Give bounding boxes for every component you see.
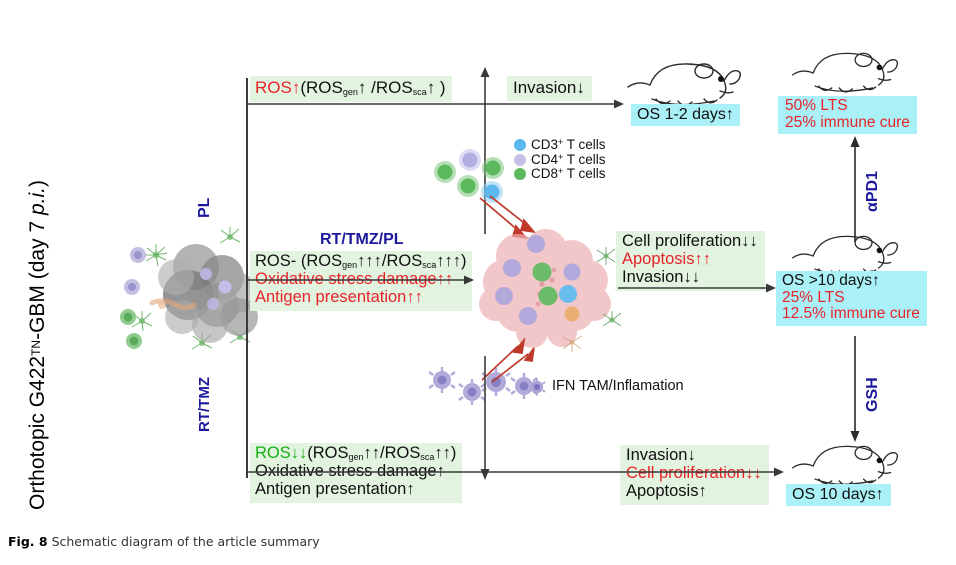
- y-axis-title-rest: -GBM (day 7: [26, 215, 49, 340]
- legend-cd4-text: CD4: [531, 152, 558, 167]
- macrophage-icon: [528, 378, 546, 396]
- apd1-label: αPD1: [864, 171, 882, 212]
- top-flow-arrow: [246, 98, 626, 112]
- bottom-os-box: OS 10 days↑: [786, 484, 891, 506]
- bottom-ros-mid: ↑↑/ROS: [364, 444, 421, 462]
- middle-lts-line: 25% LTS: [782, 290, 920, 307]
- top-ros-sca-subscript: sca: [413, 87, 427, 97]
- bottom-ros-open: (ROS: [307, 444, 348, 462]
- top-ros-gen-subscript: gen: [343, 87, 358, 97]
- cd8-dot-icon: [514, 168, 526, 180]
- center-tumor-illustration: [466, 228, 631, 350]
- macrophage-legend-label: IFN TAM/Inflamation: [552, 379, 684, 395]
- middle-ros-sca-subscript: sca: [422, 260, 436, 270]
- top-ros-detail-close: ↑ ): [427, 78, 446, 97]
- legend-cd3-text: CD3: [531, 137, 558, 152]
- legend-item-cd8: CD8+ T cells: [514, 167, 606, 182]
- gsh-down-arrow: [848, 336, 862, 442]
- figure-caption: Fig. 8 Schematic diagram of the article …: [8, 534, 320, 549]
- tcell-cluster-illustration: [432, 140, 512, 202]
- branch-label-pl: PL: [196, 198, 214, 218]
- macrophage-legend-item: IFN TAM/Inflamation: [528, 378, 684, 396]
- bottom-flow-arrow: [246, 466, 786, 480]
- middle-ros-open: ROS- (ROS: [255, 252, 342, 270]
- bottom-ros-sca-subscript: sca: [420, 452, 434, 462]
- legend-item-cd4: CD4+ T cells: [514, 153, 606, 168]
- cd4-dot-icon: [514, 154, 526, 166]
- mouse-illustration-right-top: [778, 45, 908, 101]
- right-lts-line: 50% LTS: [785, 98, 910, 115]
- figure-caption-text: Schematic diagram of the article summary: [52, 534, 320, 549]
- right-immune-cure-line: 25% immune cure: [785, 115, 910, 132]
- legend-cd3-rest: T cells: [563, 137, 605, 152]
- middle-apoptosis-line: Apoptosis↑↑: [622, 251, 758, 269]
- top-right-outcome-box: 50% LTS 25% immune cure: [778, 96, 917, 134]
- legend-item-cd3: CD3+ T cells: [514, 138, 606, 153]
- middle-flow-arrow-left: [246, 274, 476, 288]
- middle-antigen-presentation-line: Antigen presentation↑↑: [255, 289, 466, 307]
- top-ros-label: ROS↑: [255, 78, 300, 97]
- top-os-box: OS 1-2 days↑: [631, 104, 740, 126]
- middle-ros-line: ROS- (ROSgen↑↑↑/ROSsca↑↑↑): [255, 253, 466, 271]
- middle-cell-proliferation-line: Cell proliferation↓↓: [622, 233, 758, 251]
- figure-canvas: Orthotopic G422TN-GBM (day 7 p.i.) PL RT…: [0, 0, 956, 521]
- bottom-apoptosis-line: Apoptosis↑: [626, 483, 762, 501]
- bottom-ros-gen-subscript: gen: [349, 452, 364, 462]
- legend-cd8-text: CD8: [531, 166, 558, 181]
- middle-os-line: OS >10 days↑: [782, 273, 920, 290]
- bottom-ros-line: ROS↓↓(ROSgen↑↑/ROSsca↑↑): [255, 445, 456, 463]
- y-axis-title-italic: p.i.: [26, 187, 49, 215]
- tcell-legend: CD3+ T cells CD4+ T cells CD8+ T cells: [514, 138, 606, 182]
- left-tumor-illustration: [118, 225, 258, 365]
- top-ros-detail-open: (ROS: [300, 78, 343, 97]
- middle-mouse-outcome-box: OS >10 days↑ 25% LTS 12.5% immune cure: [776, 271, 927, 326]
- middle-treatment-label: RT/TMZ/PL: [320, 231, 404, 249]
- y-axis-title: Orthotopic G422TN-GBM (day 7 p.i.): [26, 180, 50, 510]
- bottom-vertical-down-arrow: [478, 356, 492, 482]
- gsh-label: GSH: [864, 377, 882, 412]
- bottom-antigen-presentation-line: Antigen presentation↑: [255, 481, 456, 499]
- legend-cd4-rest: T cells: [563, 152, 605, 167]
- legend-cd8-rest: T cells: [563, 166, 605, 181]
- bottom-invasion-line: Invasion↓: [626, 447, 762, 465]
- bottom-ros-close: ↑↑): [434, 444, 456, 462]
- middle-flow-arrow-right: [618, 282, 778, 296]
- figure-caption-label: Fig. 8: [8, 534, 48, 549]
- top-ros-detail-mid: ↑ /ROS: [358, 78, 413, 97]
- branch-label-rt-tmz: RT/TMZ: [196, 377, 213, 432]
- middle-immune-cure-line: 12.5% immune cure: [782, 306, 920, 323]
- middle-ros-gen-subscript: gen: [342, 260, 357, 270]
- apd1-up-arrow: [848, 136, 862, 242]
- middle-ros-close: ↑↑↑): [436, 252, 466, 270]
- y-axis-title-superscript: TN: [29, 340, 43, 356]
- y-axis-title-main: Orthotopic G422: [26, 356, 49, 510]
- y-axis-title-close: ): [26, 180, 49, 187]
- middle-ros-mid: ↑↑↑/ROS: [357, 252, 422, 270]
- bottom-ros-label: ROS↓↓: [255, 444, 307, 462]
- cd3-dot-icon: [514, 139, 526, 151]
